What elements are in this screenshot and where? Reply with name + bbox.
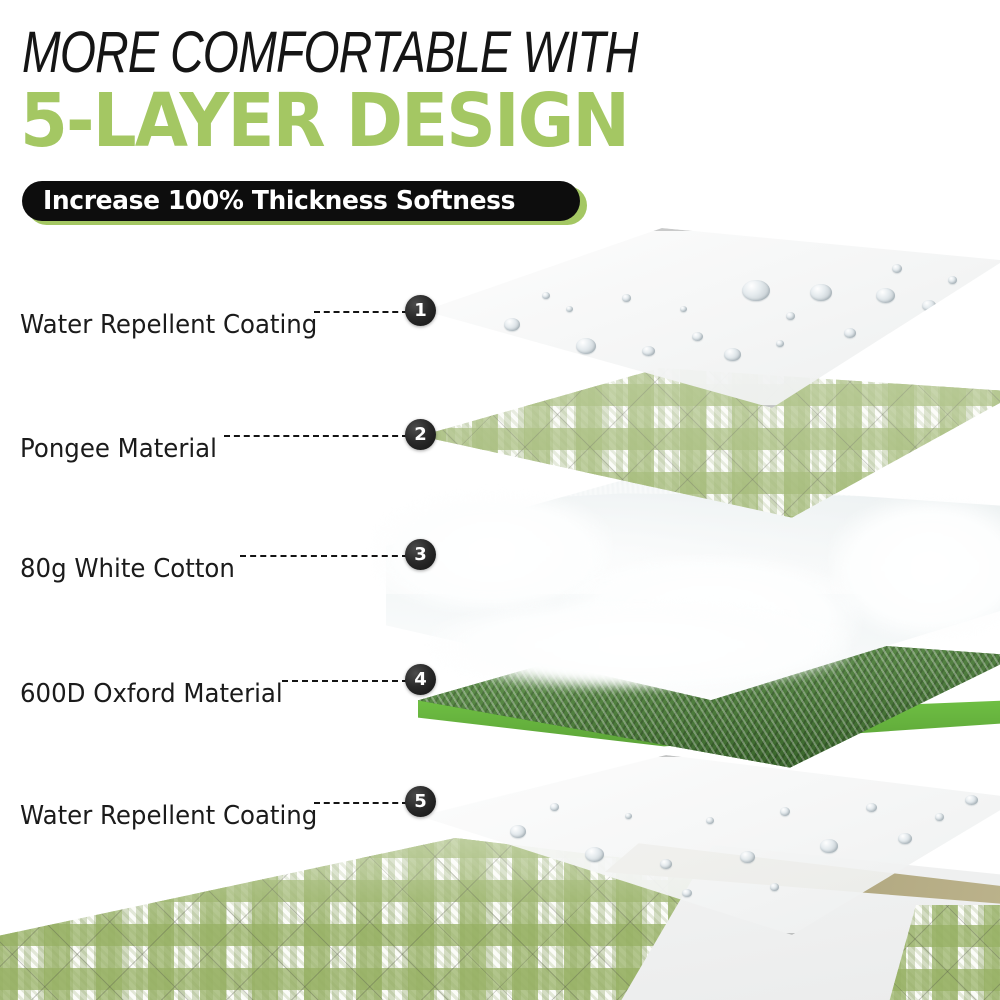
cotton-fluff-bottom: [430, 600, 850, 690]
layer-1-sheet: [424, 228, 1000, 408]
infographic-canvas: MORE COMFORTABLE WITH 5-LAYER DESIGN Inc…: [0, 0, 1000, 1000]
layer-2-sheet: [420, 368, 1000, 538]
layer-2-label: Pongee Material: [20, 434, 217, 464]
layer-3-marker: 3: [405, 539, 436, 570]
layer-5-marker: 5: [405, 786, 436, 817]
cotton-fiber-edge: [386, 474, 1000, 520]
layer-3-label: 80g White Cotton: [20, 554, 235, 584]
cotton-fluff-mid: [560, 556, 860, 676]
product-inner-white-panel: [595, 845, 1000, 1000]
layer-3-leader-line: [240, 555, 408, 557]
layer-1-label: Water Repellent Coating: [20, 310, 317, 340]
layer-2-marker: 2: [405, 419, 436, 450]
product-plaid-right-fold: [880, 905, 1000, 1000]
product-quilted-cover: [0, 838, 1000, 1000]
headline-primary: MORE COMFORTABLE WITH: [22, 24, 638, 82]
layer-1-leader-line: [314, 311, 408, 313]
layer-4-sheet: [418, 630, 1000, 790]
layer-5-sheet: [420, 755, 1000, 935]
layer-5-leader-line: [314, 802, 408, 804]
layer-4-leader-line: [282, 680, 408, 682]
layer-4-label: 600D Oxford Material: [20, 679, 283, 709]
layer-5-label: Water Repellent Coating: [20, 801, 317, 831]
subheading-badge: Increase 100% Thickness Softness: [22, 181, 588, 224]
product-binding-strip: [605, 836, 1000, 956]
layer-2-leader-line: [224, 435, 408, 437]
layer-1-marker: 1: [405, 295, 436, 326]
badge-label: Increase 100% Thickness Softness: [43, 186, 515, 216]
cotton-fluff-right: [830, 498, 1000, 638]
headline-secondary: 5-LAYER DESIGN: [20, 84, 628, 158]
layer-4-edge: [418, 700, 1000, 780]
badge-pill: Increase 100% Thickness Softness: [22, 181, 580, 221]
layer-3-cotton: [386, 480, 1000, 700]
layer-4-marker: 4: [405, 664, 436, 695]
